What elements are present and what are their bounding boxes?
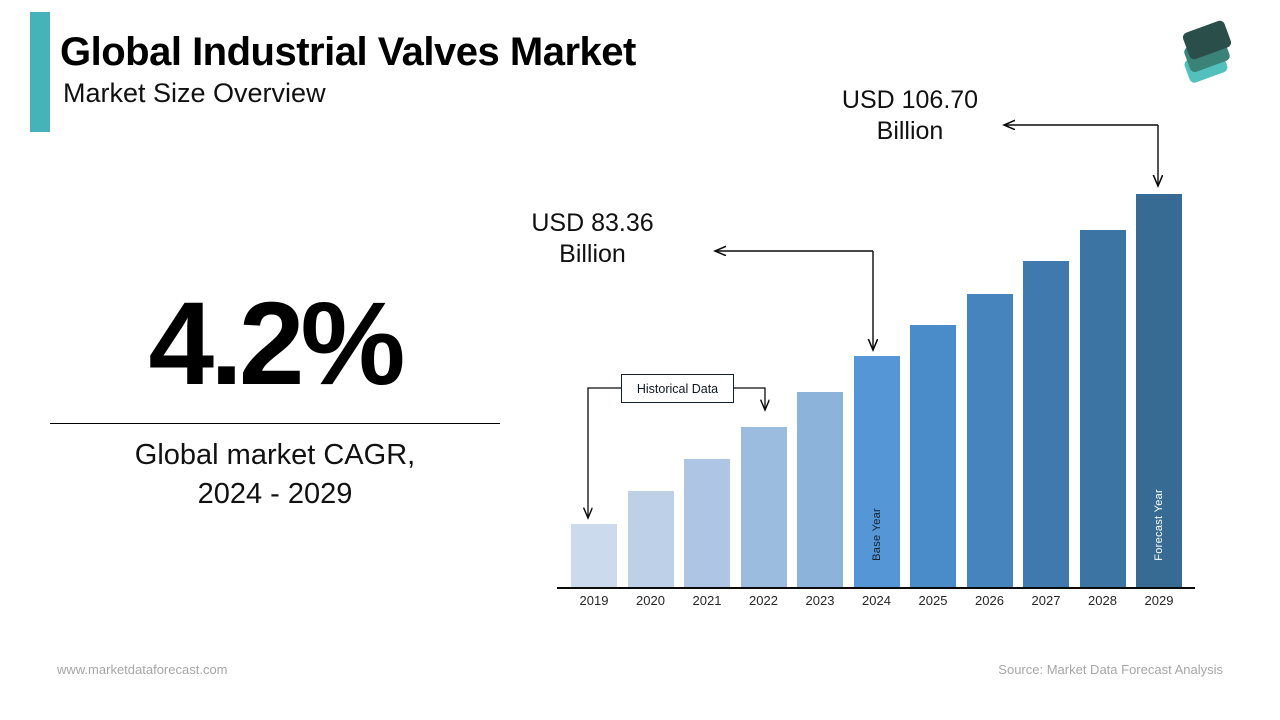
x-tick-2025: 2025: [910, 593, 956, 608]
x-tick-2026: 2026: [967, 593, 1013, 608]
bar-2021: [684, 459, 730, 587]
chart-axis-line: [557, 587, 1195, 589]
accent-bar: [30, 12, 50, 132]
cagr-block: 4.2% Global market CAGR, 2024 - 2029: [50, 285, 500, 514]
cagr-value: 4.2%: [50, 285, 500, 403]
forecast-callout-line2: Billion: [820, 116, 1000, 147]
x-tick-2020: 2020: [628, 593, 674, 608]
bar-2023: [797, 392, 843, 587]
x-tick-2022: 2022: [741, 593, 787, 608]
footer-source: Source: Market Data Forecast Analysis: [998, 662, 1223, 677]
page-title: Global Industrial Valves Market: [60, 32, 636, 72]
bar-2029: Forecast Year: [1136, 194, 1182, 587]
bar-2019: [571, 524, 617, 587]
base-value-callout: USD 83.36 Billion: [505, 208, 680, 269]
base-year-label: Base Year: [871, 508, 883, 561]
historical-data-label: Historical Data: [621, 374, 734, 403]
bar-2020: [628, 491, 674, 587]
bar-2025: [910, 325, 956, 587]
bar-2027: [1023, 261, 1069, 587]
forecast-year-label: Forecast Year: [1153, 489, 1165, 561]
base-callout-line2: Billion: [505, 239, 680, 270]
cagr-divider: [50, 423, 500, 424]
stacked-diamonds-logo: [1164, 20, 1248, 92]
forecast-value-callout: USD 106.70 Billion: [820, 85, 1000, 146]
bar-2028: [1080, 230, 1126, 587]
x-tick-2029: 2029: [1136, 593, 1182, 608]
x-tick-2019: 2019: [571, 593, 617, 608]
footer-website[interactable]: www.marketdataforecast.com: [57, 662, 228, 677]
base-callout-line1: USD 83.36: [505, 208, 680, 239]
bar-2022: [741, 427, 787, 587]
x-tick-2021: 2021: [684, 593, 730, 608]
x-tick-2028: 2028: [1080, 593, 1126, 608]
cagr-caption-line2: 2024 - 2029: [50, 475, 500, 514]
cagr-caption-line1: Global market CAGR,: [50, 436, 500, 475]
bar-2024: Base Year: [854, 356, 900, 587]
page-subtitle: Market Size Overview: [63, 80, 326, 107]
bar-2026: [967, 294, 1013, 587]
x-tick-2024: 2024: [854, 593, 900, 608]
x-tick-2027: 2027: [1023, 593, 1069, 608]
x-tick-2023: 2023: [797, 593, 843, 608]
forecast-callout-line1: USD 106.70: [820, 85, 1000, 116]
cagr-caption: Global market CAGR, 2024 - 2029: [50, 436, 500, 514]
